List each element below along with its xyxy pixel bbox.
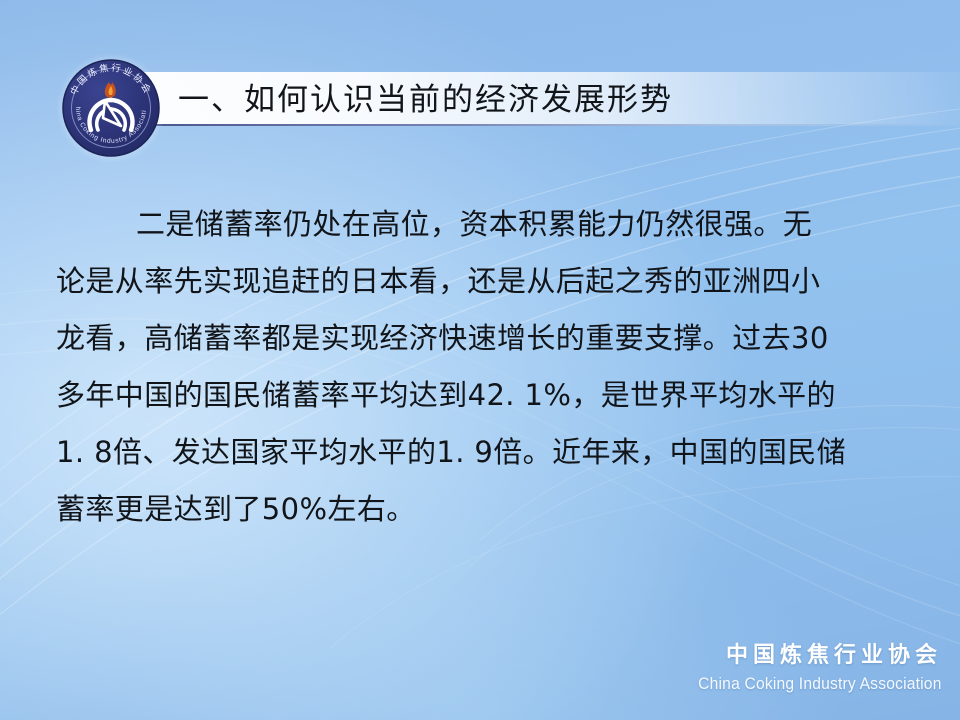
- body-line: 多年中国的国民储蓄率平均达到42. 1%，是世界平均水平的: [56, 367, 912, 424]
- body-line: 蓄率更是达到了50%左右。: [56, 481, 912, 538]
- association-logo-icon: 中国炼焦行业协会 China Coking Industry Associati…: [55, 52, 167, 164]
- body-line: 论是从率先实现追赶的日本看，还是从后起之秀的亚洲四小: [56, 253, 912, 310]
- page-title: 一、如何认识当前的经济发展形势: [178, 80, 673, 120]
- body-line: 1. 8倍、发达国家平均水平的1. 9倍。近年来，中国的国民储: [56, 424, 912, 481]
- footer-brand: 中国炼焦行业协会 China Coking Industry Associati…: [677, 642, 942, 696]
- footer-brand-cn: 中国炼焦行业协会: [677, 642, 942, 670]
- footer-brand-en: China Coking Industry Association: [699, 672, 942, 696]
- body-line: 二是储蓄率仍处在高位，资本积累能力仍然很强。无: [56, 196, 912, 253]
- slide-body: 二是储蓄率仍处在高位，资本积累能力仍然很强。无 论是从率先实现追赶的日本看，还是…: [56, 196, 912, 538]
- slide-canvas: 一、如何认识当前的经济发展形势 中国炼焦行业协会 China Coking In…: [0, 0, 960, 720]
- body-line: 龙看，高储蓄率都是实现经济快速增长的重要支撑。过去30: [56, 310, 912, 367]
